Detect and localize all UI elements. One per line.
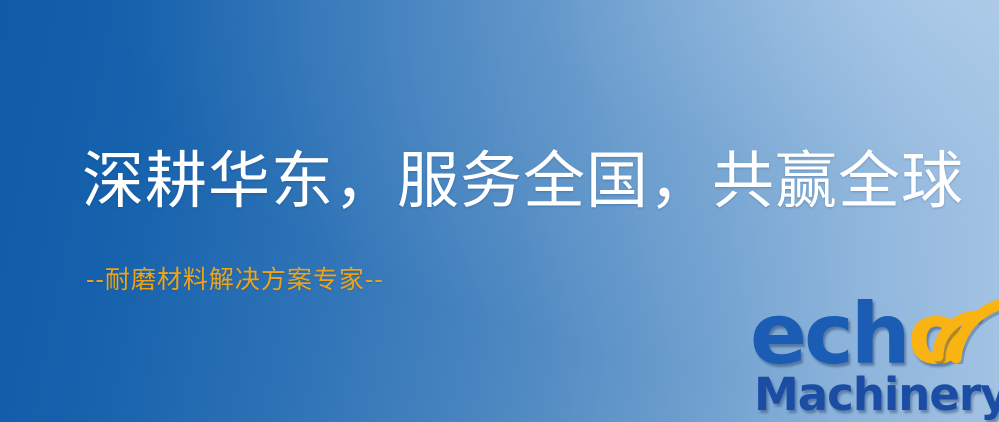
company-logo[interactable]: echo Machinery® <box>748 296 999 422</box>
page-subtitle: --耐磨材料解决方案专家-- <box>86 267 384 292</box>
echo-waves-icon <box>926 294 999 364</box>
logo-sub-wordmark: Machinery® <box>754 372 999 417</box>
page-title: 深耕华东，服务全国，共赢全球 <box>82 150 964 212</box>
logo-sub-text: Machinery <box>754 368 999 421</box>
hero-banner: 深耕华东，服务全国，共赢全球 --耐磨材料解决方案专家-- echo Machi… <box>0 0 999 422</box>
